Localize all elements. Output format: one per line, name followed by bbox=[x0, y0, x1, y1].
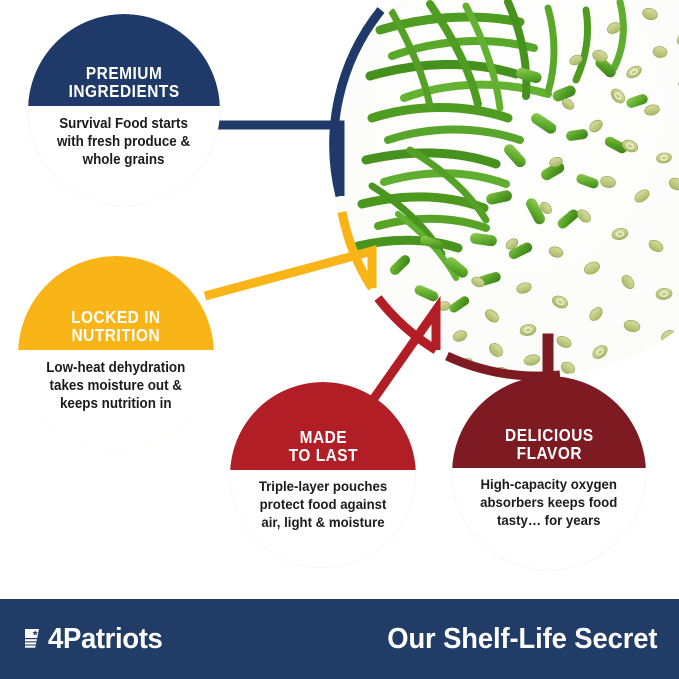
callout-title-flavor: DELICIOUS FLAVOR bbox=[505, 404, 594, 468]
brand-name: 4Patriots bbox=[48, 623, 162, 656]
callout-description-flavor: High-capacity oxygen absorbers keeps foo… bbox=[480, 477, 617, 531]
callout-header-made: MADE TO LAST bbox=[230, 382, 416, 470]
callout-body-locked: Low-heat dehydration takes moisture out … bbox=[18, 350, 214, 452]
banner-tagline: Our Shelf-Life Secret bbox=[387, 623, 657, 656]
callout-description-premium: Survival Food starts with fresh produce … bbox=[57, 115, 190, 169]
callout-made-to-last: MADE TO LAST Triple-layer pouches protec… bbox=[230, 382, 416, 568]
flag-star-stripes-icon bbox=[25, 629, 47, 649]
connector-gold bbox=[205, 251, 372, 296]
callout-header-premium: PREMIUM INGREDIENTS bbox=[28, 14, 220, 106]
callout-description-made: Triple-layer pouches protect food agains… bbox=[259, 479, 387, 533]
callout-header-locked: LOCKED IN NUTRITION bbox=[18, 256, 214, 350]
callout-premium-ingredients: PREMIUM INGREDIENTS Survival Food starts… bbox=[28, 14, 220, 206]
callout-body-flavor: High-capacity oxygen absorbers keeps foo… bbox=[452, 468, 646, 570]
brand-logo: 4Patriots bbox=[25, 623, 169, 656]
callout-body-premium: Survival Food starts with fresh produce … bbox=[28, 106, 220, 206]
callout-title-locked: LOCKED IN NUTRITION bbox=[71, 284, 160, 350]
callout-title-made: MADE TO LAST bbox=[288, 406, 357, 470]
callout-title-premium: PREMIUM INGREDIENTS bbox=[68, 42, 179, 106]
infographic-canvas: PREMIUM INGREDIENTS Survival Food starts… bbox=[0, 0, 679, 679]
callout-header-flavor: DELICIOUS FLAVOR bbox=[452, 376, 646, 468]
callout-description-locked: Low-heat dehydration takes moisture out … bbox=[46, 359, 185, 413]
callout-locked-in-nutrition: LOCKED IN NUTRITION Low-heat dehydration… bbox=[18, 256, 214, 452]
callout-delicious-flavor: DELICIOUS FLAVOR High-capacity oxygen ab… bbox=[452, 376, 646, 570]
callout-body-made: Triple-layer pouches protect food agains… bbox=[230, 470, 416, 568]
bottom-banner: 4Patriots Our Shelf-Life Secret bbox=[0, 599, 679, 679]
